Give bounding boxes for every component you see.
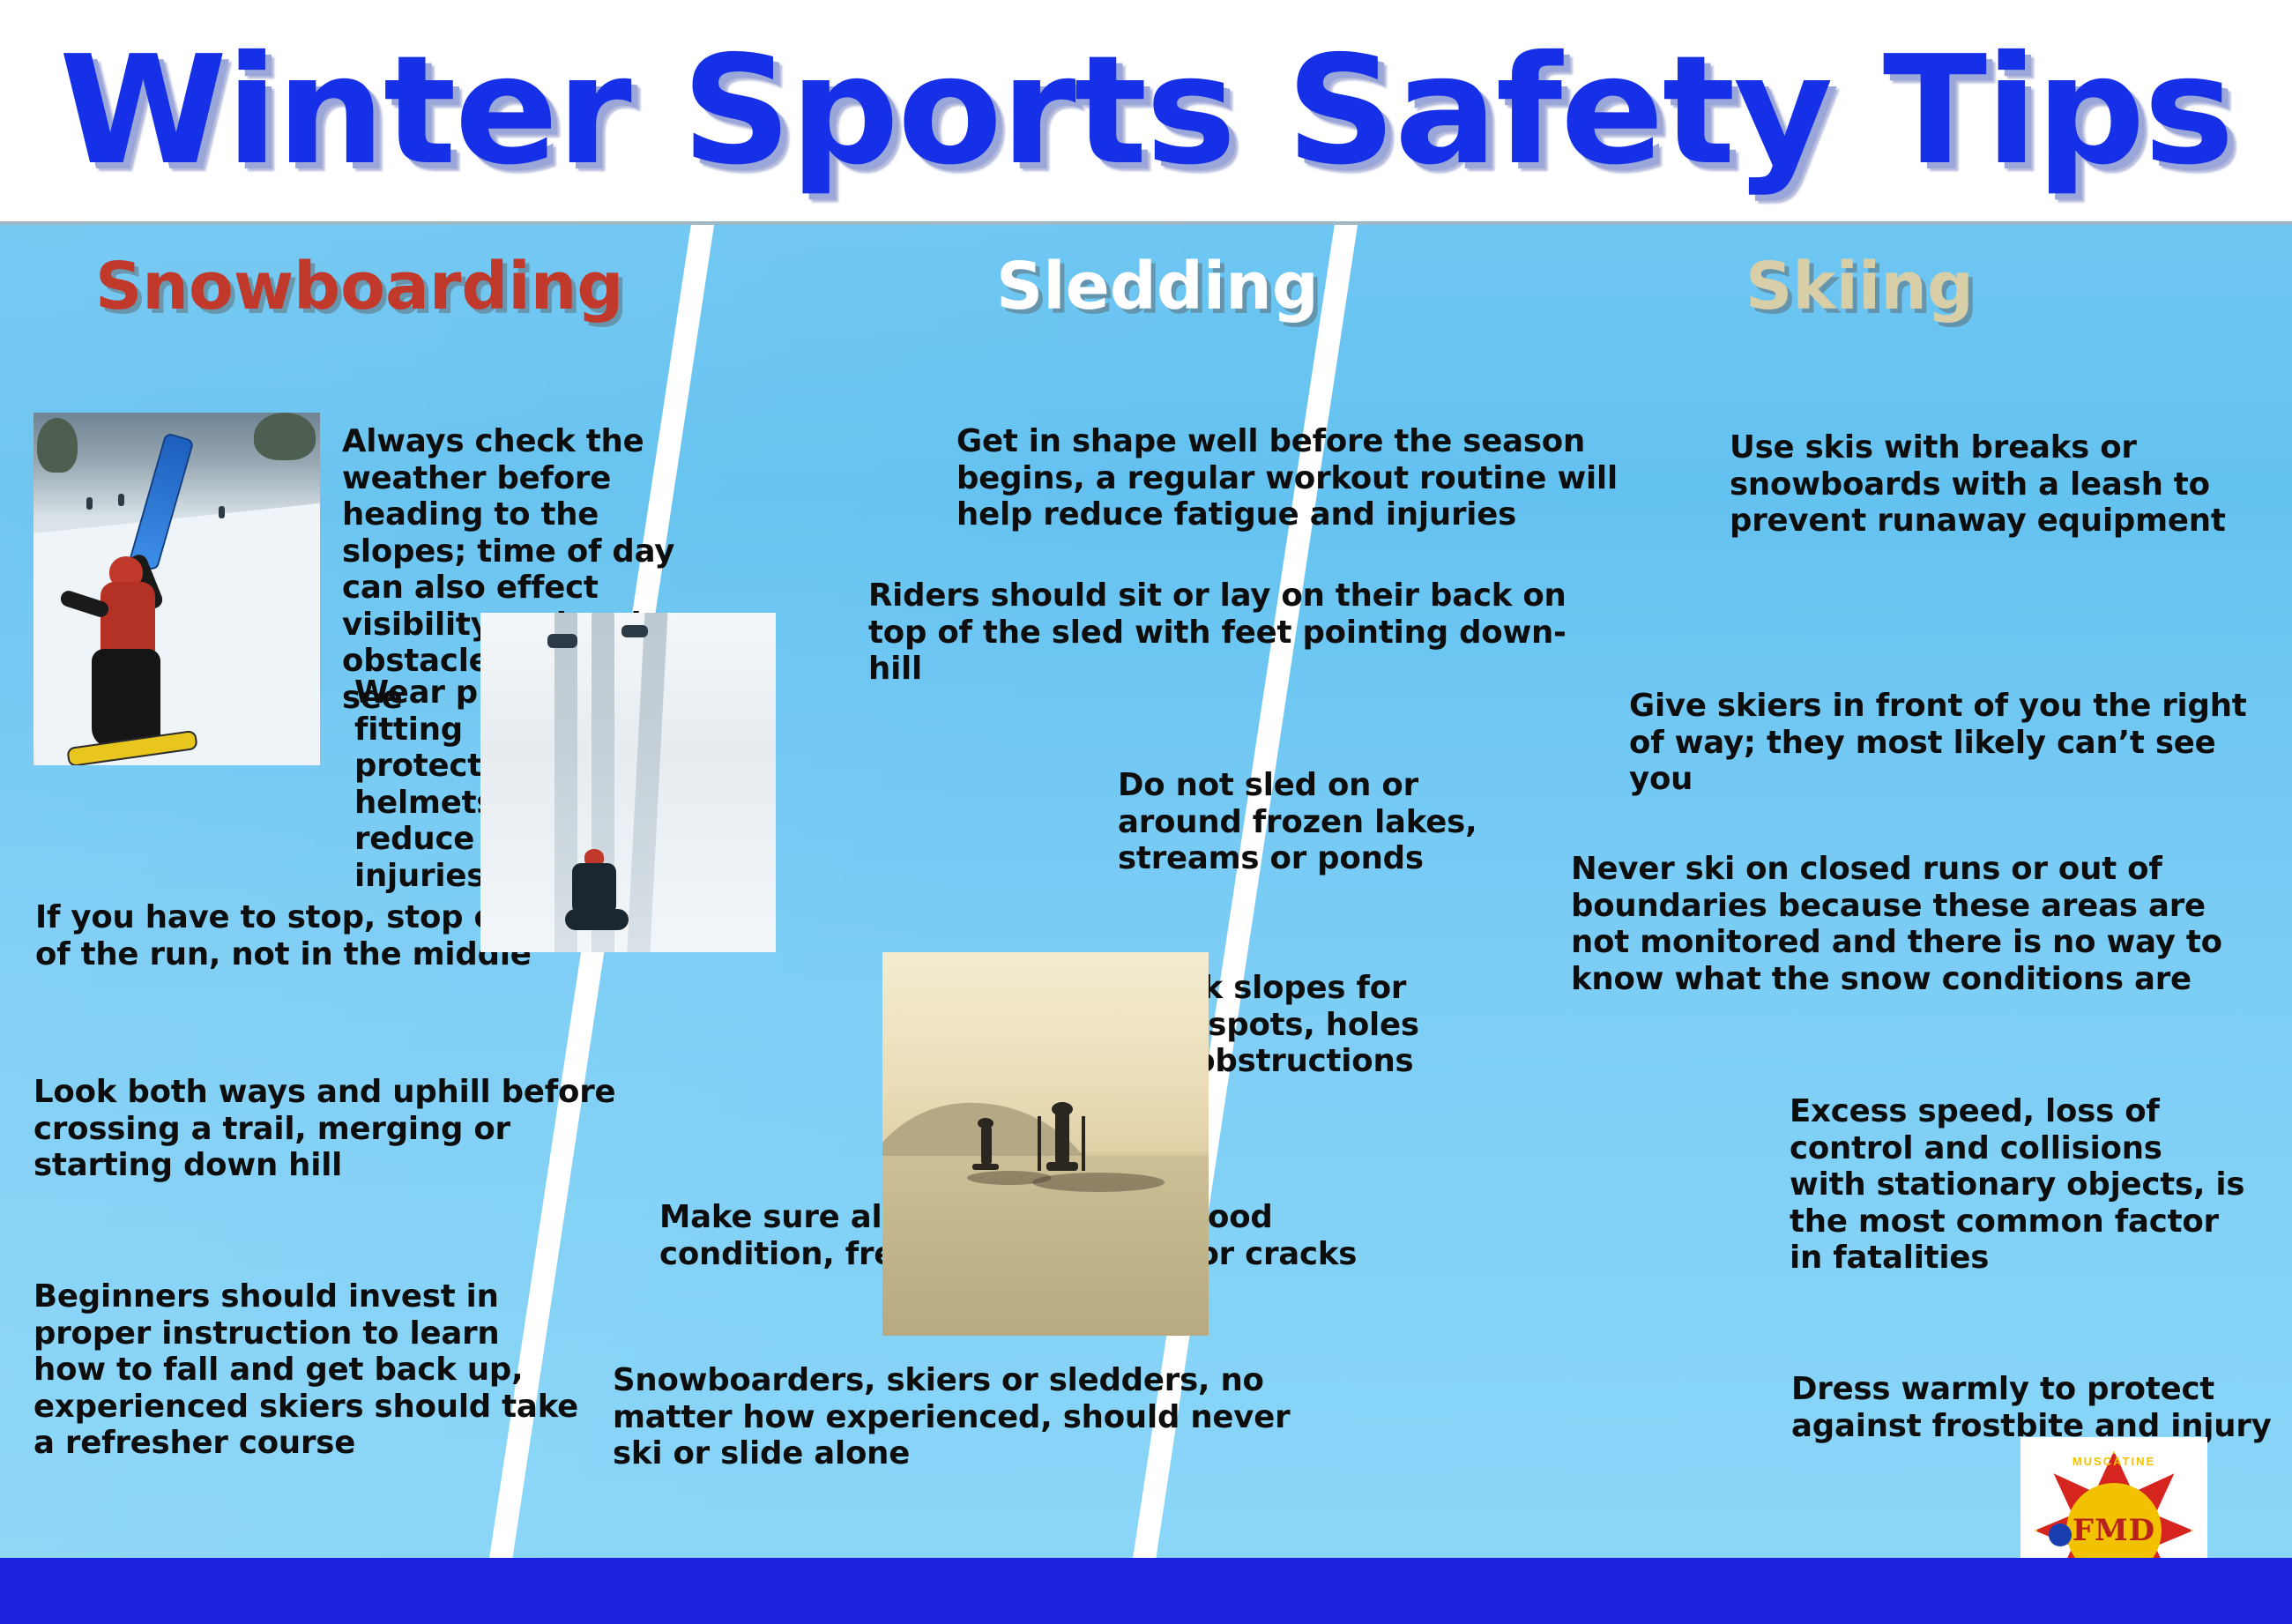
skier-shadow [967,1171,1052,1185]
rider-legs [92,649,160,748]
tree-icon [254,413,316,460]
tip-skiing-1: Use skis with breaks or snowboards with … [1730,429,2276,540]
tree-icon [37,418,78,473]
slope-snow [33,503,320,765]
column-heading-sledding: Sledding [996,254,1319,319]
skis [972,1164,999,1170]
tip-snowboarding-4: Look both ways and uphill before crossin… [33,1074,651,1184]
ski-pole [1082,1116,1085,1171]
distant-skier [86,497,93,510]
skier-silhouette-second [981,1125,992,1166]
tip-skiing-2: Give skiers in front of you the right of… [1629,688,2286,798]
tip-snowboarding-5: Beginners should invest in proper instru… [33,1278,580,1462]
column-heading-snowboarding: Snowboarding [95,254,623,319]
snowboarder-photo [33,413,320,765]
skier-silhouette-main [1055,1111,1069,1166]
tip-sledding-6: Snowboarders, skiers or sledders, no mat… [613,1362,1327,1472]
logo-initials: FMD [2072,1513,2155,1548]
distant-sledder [621,625,648,637]
logo-top-text: MUSCATINE [2031,1455,2197,1468]
snow-tube [565,909,629,930]
tip-skiing-4: Excess speed, loss of control and collis… [1790,1093,2248,1277]
distant-sledder [547,634,577,648]
skier-shadow [1032,1173,1165,1192]
bottom-bar [0,1558,2292,1624]
page-title: Winter Sports Safety Tips [59,36,2233,186]
sled-track [626,613,668,952]
skier-head [1052,1102,1073,1116]
sledding-photo [480,613,776,952]
column-heading-skiing: Skiing [1745,254,1974,319]
skis [1046,1162,1078,1171]
star-of-life-icon [2049,1523,2072,1546]
rider-torso [100,582,155,658]
sledder-body [572,863,616,914]
skier-head [978,1118,993,1129]
skiing-photo [882,952,1209,1336]
title-banner: Winter Sports Safety Tips [0,0,2292,225]
tip-skiing-5: Dress warmly to protect against frostbit… [1791,1371,2272,1444]
distant-skier [219,506,225,518]
distant-skier [118,494,124,506]
ski-pole [1038,1116,1041,1171]
poster-body: Snowboarding Always check the weather be… [0,225,2292,1558]
tip-skiing-3: Never ski on closed runs or out of bound… [1571,851,2241,997]
